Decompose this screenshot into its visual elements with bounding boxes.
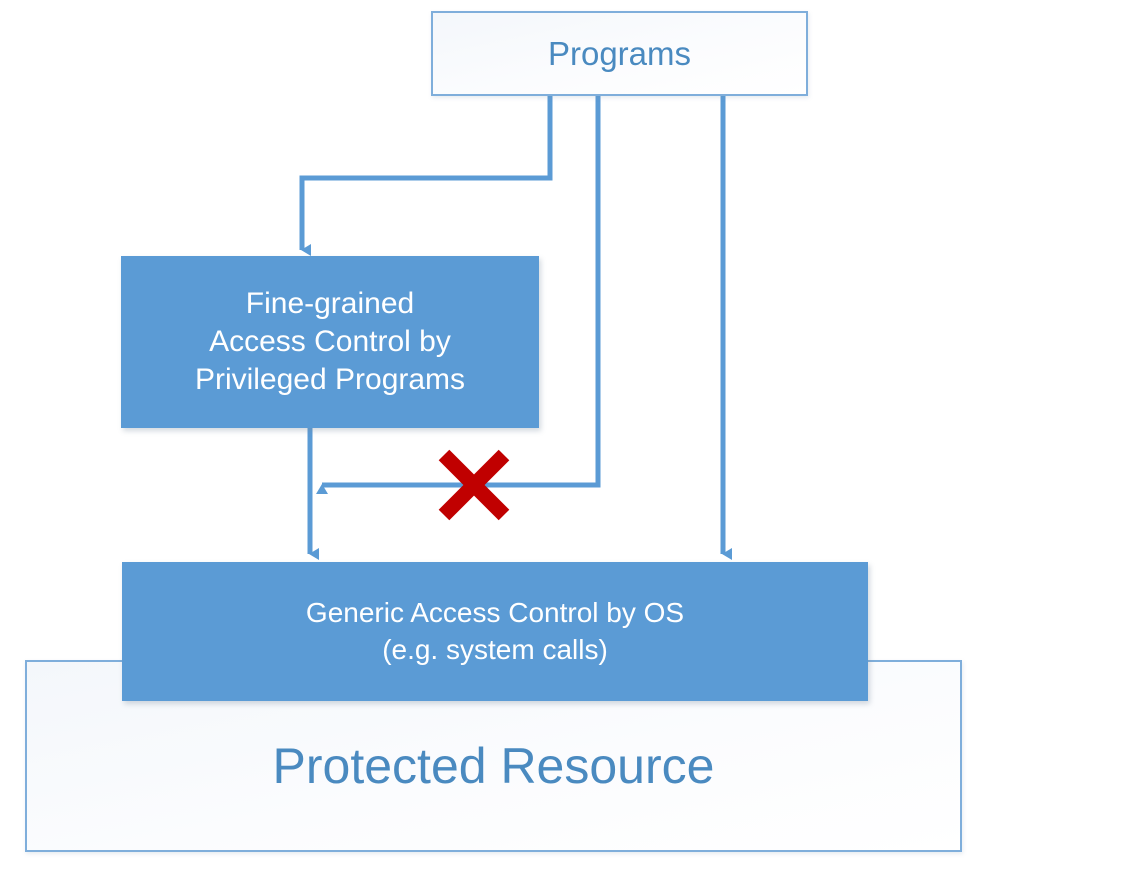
node-fine-grained-text: Fine-grained Access Control by Privilege… [195, 285, 465, 399]
node-generic-access-control[interactable]: Generic Access Control by OS (e.g. syste… [122, 562, 868, 701]
node-fine-grained-access-control[interactable]: Fine-grained Access Control by Privilege… [121, 256, 539, 428]
node-generic-line-1: Generic Access Control by OS [306, 595, 684, 631]
node-programs[interactable]: Programs [431, 11, 808, 96]
edge-programs-to-fine-grained [302, 96, 550, 250]
node-fine-grained-line-3: Privileged Programs [195, 361, 465, 399]
diagram-canvas: Protected Resource Programs Fine-grained… [0, 0, 1148, 872]
node-generic-text: Generic Access Control by OS (e.g. syste… [306, 595, 684, 668]
node-protected-resource-label: Protected Resource [273, 737, 715, 795]
node-fine-grained-line-1: Fine-grained [195, 285, 465, 323]
node-programs-label: Programs [548, 35, 691, 73]
red-cross-icon [437, 448, 511, 522]
node-fine-grained-line-2: Access Control by [195, 323, 465, 361]
node-generic-line-2: (e.g. system calls) [306, 632, 684, 668]
